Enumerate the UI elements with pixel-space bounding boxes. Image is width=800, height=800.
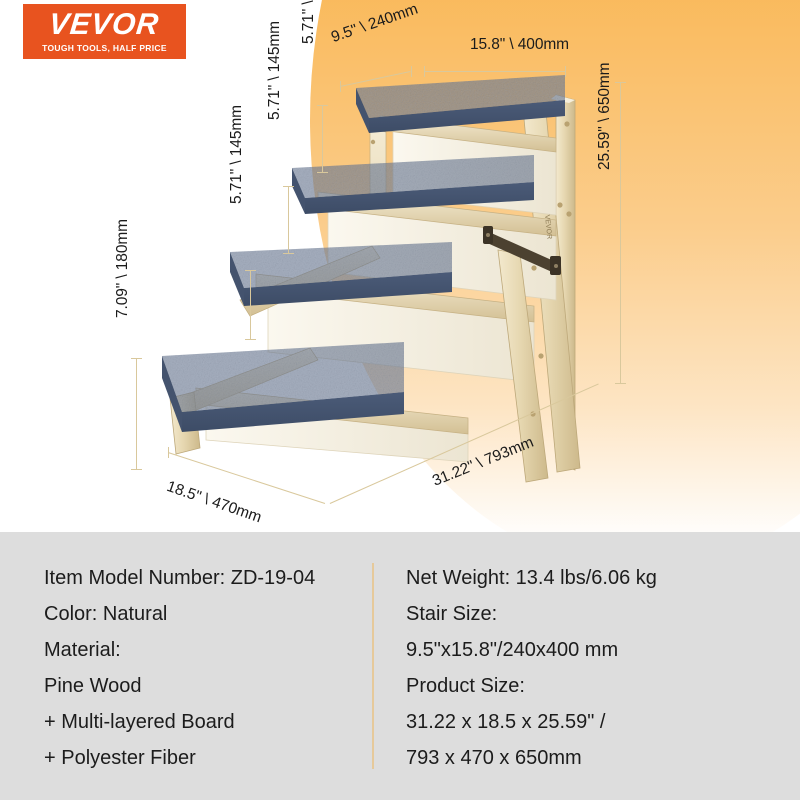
- spec-material-1: Pine Wood: [44, 668, 372, 704]
- dim-tick-rise-2-bottom: [245, 339, 256, 340]
- specifications-panel: Item Model Number: ZD-19-04 Color: Natur…: [0, 532, 800, 800]
- product-diagram-area: VEVOR 9.5" \ 240mm 15.8" \ 400mm 5.71" \…: [0, 0, 800, 532]
- dim-tick-total-width-start: [168, 447, 169, 458]
- dim-label-step-width: 15.8" \ 400mm: [470, 36, 569, 54]
- dim-line-total-height: [620, 82, 621, 384]
- dim-line-step-width: [424, 71, 566, 72]
- dim-line-rise-1: [136, 358, 137, 470]
- dim-tick-rise-1-bottom: [131, 469, 142, 470]
- dim-label-rise-3: 5.71" \ 145mm: [266, 0, 284, 120]
- dim-label-rise-1: 7.09" \ 180mm: [114, 183, 132, 318]
- dim-line-rise-3: [288, 186, 289, 254]
- specs-left-column: Item Model Number: ZD-19-04 Color: Natur…: [0, 532, 372, 800]
- specs-right-column: Net Weight: 13.4 lbs/6.06 kg Stair Size:…: [372, 532, 800, 800]
- dim-tick-total-height-bottom: [615, 383, 626, 384]
- spec-material-3: + Polyester Fiber: [44, 740, 372, 776]
- vevor-logo: VEVOR TOUGH TOOLS, HALF PRICE: [23, 4, 186, 59]
- dim-tick-step-depth-end: [411, 66, 412, 77]
- spec-material-heading: Material:: [44, 632, 372, 668]
- vevor-tagline: TOUGH TOOLS, HALF PRICE: [42, 44, 167, 53]
- spec-color: Color: Natural: [44, 596, 372, 632]
- vevor-wordmark: VEVOR: [48, 10, 161, 40]
- dim-label-rise-4: 5.71" \ 145mm: [300, 0, 318, 44]
- dim-label-total-height: 25.59" \ 650mm: [596, 10, 614, 170]
- dim-tick-rise-4-bottom: [317, 172, 328, 173]
- dim-tick-rise-3-top: [283, 186, 294, 187]
- spec-material-2: + Multi-layered Board: [44, 704, 372, 740]
- specs-column-divider: [372, 563, 374, 769]
- spec-product-size-imperial: 31.22 x 18.5 x 25.59" /: [406, 704, 800, 740]
- spec-net-weight: Net Weight: 13.4 lbs/6.06 kg: [406, 560, 800, 596]
- spec-product-size-heading: Product Size:: [406, 668, 800, 704]
- dim-tick-rise-1-top: [131, 358, 142, 359]
- dim-tick-step-depth-start: [340, 81, 341, 92]
- dim-tick-total-height-top: [615, 82, 626, 83]
- product-spec-page: VEVOR 9.5" \ 240mm 15.8" \ 400mm 5.71" \…: [0, 0, 800, 800]
- dim-tick-rise-2-top: [245, 270, 256, 271]
- spec-item-model-number: Item Model Number: ZD-19-04: [44, 560, 372, 596]
- dim-tick-step-width-start: [424, 66, 425, 77]
- dim-tick-step-width-end: [565, 66, 566, 77]
- dim-tick-rise-3-bottom: [283, 253, 294, 254]
- dim-line-rise-2: [250, 270, 251, 340]
- spec-product-size-metric: 793 x 470 x 650mm: [406, 740, 800, 776]
- spec-stair-size-value: 9.5"x15.8"/240x400 mm: [406, 632, 800, 668]
- dim-label-rise-2: 5.71" \ 145mm: [228, 69, 246, 204]
- dim-line-rise-4: [322, 105, 323, 173]
- spec-stair-size-heading: Stair Size:: [406, 596, 800, 632]
- dim-tick-rise-4-top: [317, 105, 328, 106]
